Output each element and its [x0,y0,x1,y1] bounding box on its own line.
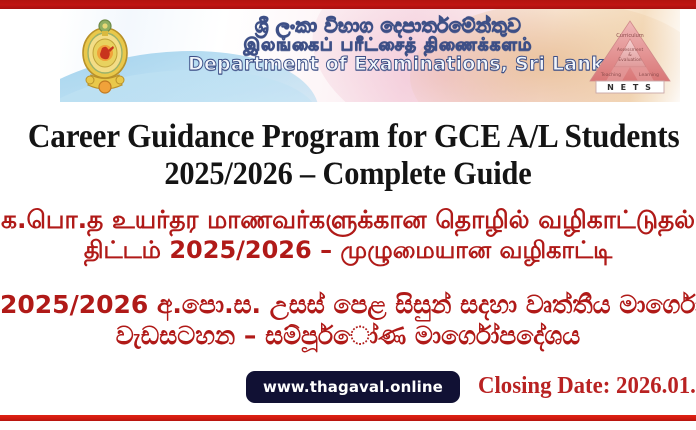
headline-sinhala-line1: 2025/2026 අ.පො.ස. උසස් පෙළ සිසුන් සදහා ව… [0,290,696,321]
headline-english: Career Guidance Program for GCE A/L Stud… [28,118,668,194]
banner-text-block: ශ්‍රී ලංකා විභාග දෙපාර්තමේන්තුව இலங்கைப்… [188,16,588,74]
svg-text:Learning: Learning [639,72,659,78]
headline-english-line2: 2025/2026 – Complete Guide [28,156,668,193]
closing-date-text: Closing Date: 2026.01.3 [478,373,696,400]
bottom-accent-rule [0,415,696,421]
banner-line-english: Department of Examinations, Sri Lanka [188,54,588,74]
banner-line-tamil: இலங்கைப் பரீட்சைத் திணைக்களம் [188,36,588,54]
headline-tamil: க.பொ.த உயர்தர மாணவர்களுக்கான தொழில் வழிக… [0,205,696,265]
website-badge-label: www.thagaval.online [263,378,443,396]
svg-text:Curriculum: Curriculum [616,33,644,39]
top-accent-rule [0,0,696,9]
poster-root: ශ්‍රී ලංකා විභාග දෙපාර්තමේන්තුව இலங்கைப்… [0,0,696,430]
svg-text:Evaluation: Evaluation [618,57,641,63]
banner-line-sinhala: ශ්‍රී ලංකා විභාග දෙපාර්තමේන්තුව [188,16,588,36]
headline-tamil-line1: க.பொ.த உயர்தர மாணவர்களுக்கான தொழில் வழிக… [0,205,696,236]
headline-sinhala: 2025/2026 අ.පො.ස. උසස් පෙළ සිසුන් සදහා ව… [0,290,696,351]
svg-text:Teaching: Teaching [600,72,621,78]
website-badge[interactable]: www.thagaval.online [246,371,460,403]
headline-english-line1: Career Guidance Program for GCE A/L Stud… [28,118,668,156]
sri-lanka-emblem-icon [75,17,135,95]
department-header-banner: ශ්‍රී ලංකා විභාග දෙපාර්තමේන්තුව இலங்கைப்… [60,9,680,102]
svg-text:N E T S: N E T S [607,83,653,92]
nets-logo-icon: Curriculum Assessment & Evaluation Teach… [586,17,674,97]
headline-sinhala-line2: වැඩසටහන – සම්පූර්ෝණ මාර්ගෝපදේශය [0,321,696,352]
headline-tamil-line2: திட்டம் 2025/2026 – முழுமையான வழிகாட்டி [0,236,696,265]
